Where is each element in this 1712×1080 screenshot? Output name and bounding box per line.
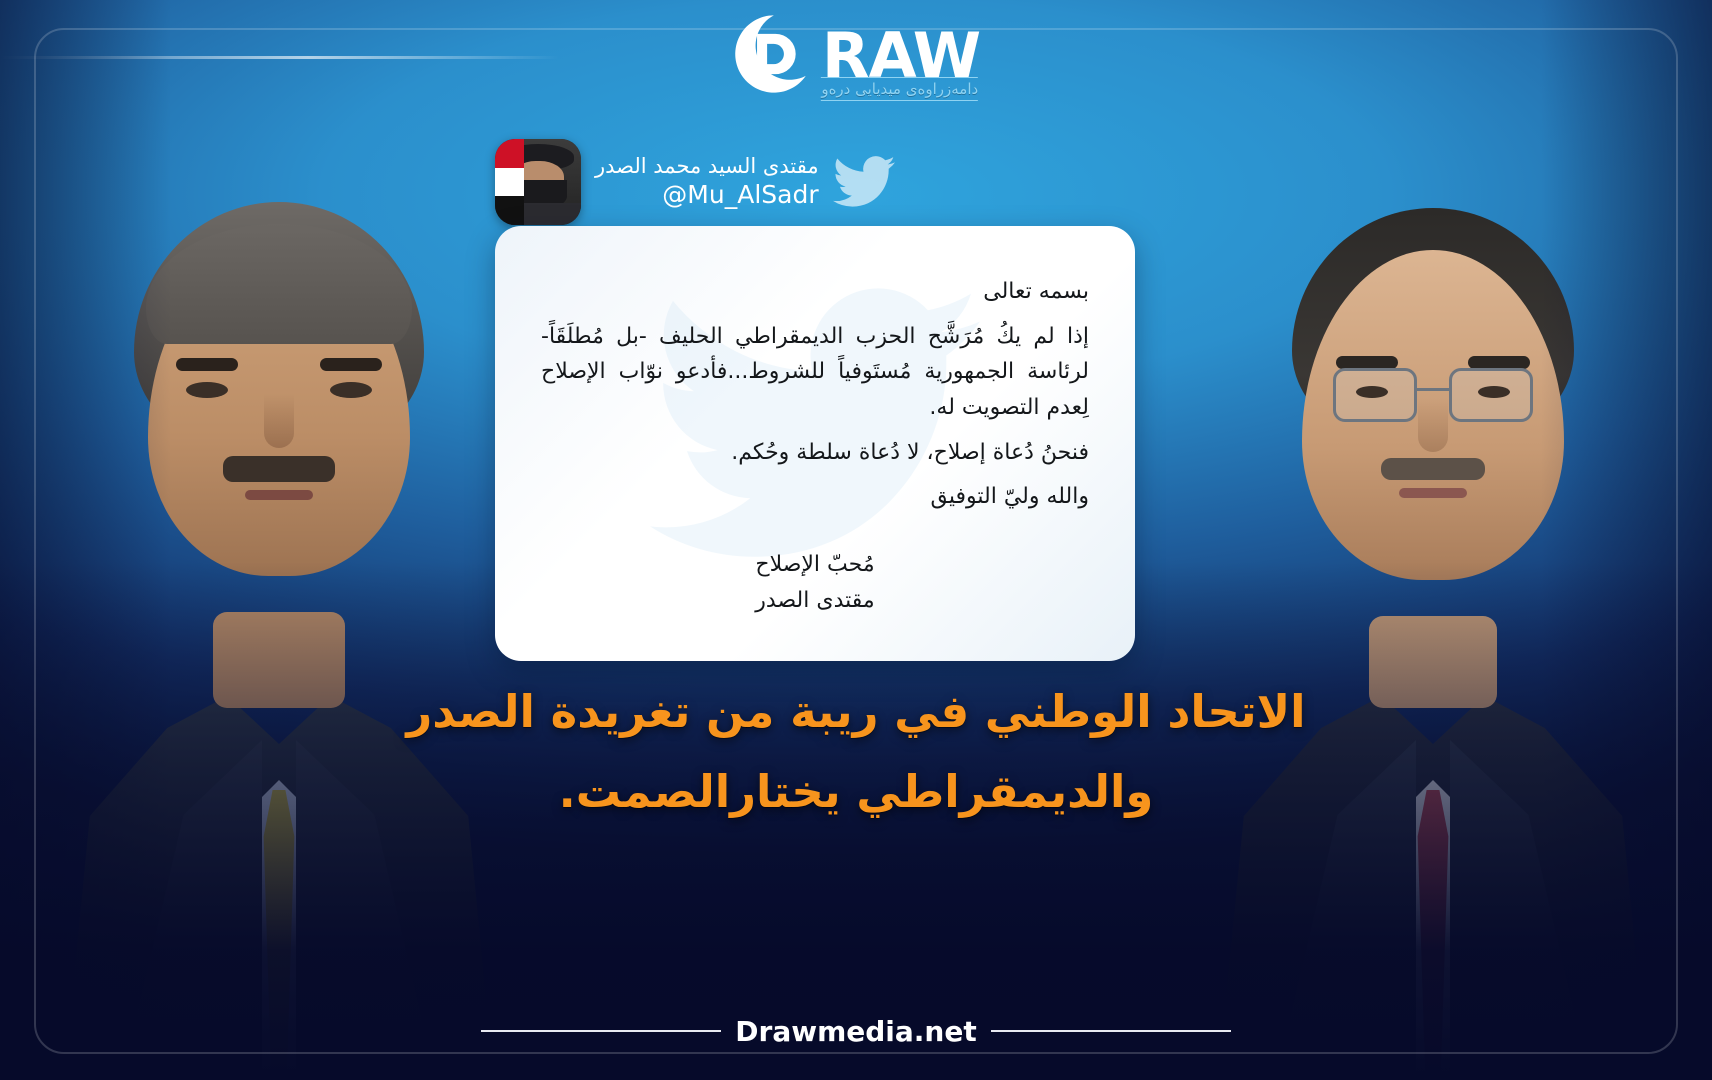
twitter-bird-icon: [833, 156, 895, 208]
tweet-avatar[interactable]: [495, 139, 581, 225]
headline-line-2: والديمقراطي يختارالصمت.: [60, 752, 1652, 832]
tweet-line-0: بسمه تعالى: [541, 274, 1089, 310]
news-graphic-card: RAW دامەزراوەی میدیایی درەو مقتدى السيد …: [0, 0, 1712, 1080]
tweet-screenshot: مقتدى السيد محمد الصدر @Mu_AlSadr بسمه ت…: [495, 140, 1135, 661]
tweet-account-names: مقتدى السيد محمد الصدر @Mu_AlSadr: [595, 154, 819, 210]
tweet-handle[interactable]: @Mu_AlSadr: [595, 180, 819, 211]
tweet-line-3: والله وليّ التوفيق: [541, 479, 1089, 515]
tweet-signature: مُحبّ الإصلاح مقتدى الصدر: [541, 549, 1089, 617]
logo-wordmark: RAW: [822, 28, 980, 84]
headline-line-1: الاتحاد الوطني في ريبة من تغريدة الصدر: [60, 672, 1652, 752]
headline: الاتحاد الوطني في ريبة من تغريدة الصدر و…: [60, 672, 1652, 832]
footer: Drawmedia.net: [0, 1008, 1712, 1054]
logo-subtitle: دامەزراوەی میدیایی درەو: [821, 80, 978, 98]
tweet-line-1: إذا لم يكُ مُرَشَّح الحزب الديمقراطي الح…: [541, 319, 1089, 426]
footer-site-url[interactable]: Drawmedia.net: [721, 1015, 990, 1048]
tweet-display-name: مقتدى السيد محمد الصدر: [595, 154, 819, 178]
tweet-line-2: فنحنُ دُعاة إصلاح، لا دُعاة سلطة وحُكم.: [541, 435, 1089, 471]
footer-rule-right: [991, 1030, 1231, 1032]
tweet-header: مقتدى السيد محمد الصدر @Mu_AlSadr: [495, 140, 1135, 224]
tweet-body-card: بسمه تعالى إذا لم يكُ مُرَشَّح الحزب الد…: [495, 226, 1135, 661]
tweet-signature-1: مقتدى الصدر: [541, 585, 1089, 617]
draw-media-logo[interactable]: RAW دامەزراوەی میدیایی درەو: [732, 12, 980, 96]
tweet-text: بسمه تعالى إذا لم يكُ مُرَشَّح الحزب الد…: [541, 274, 1089, 617]
tweet-signature-0: مُحبّ الإصلاح: [541, 549, 1089, 581]
d-circle-logo-icon: [732, 12, 816, 96]
footer-rule-left: [481, 1030, 721, 1032]
